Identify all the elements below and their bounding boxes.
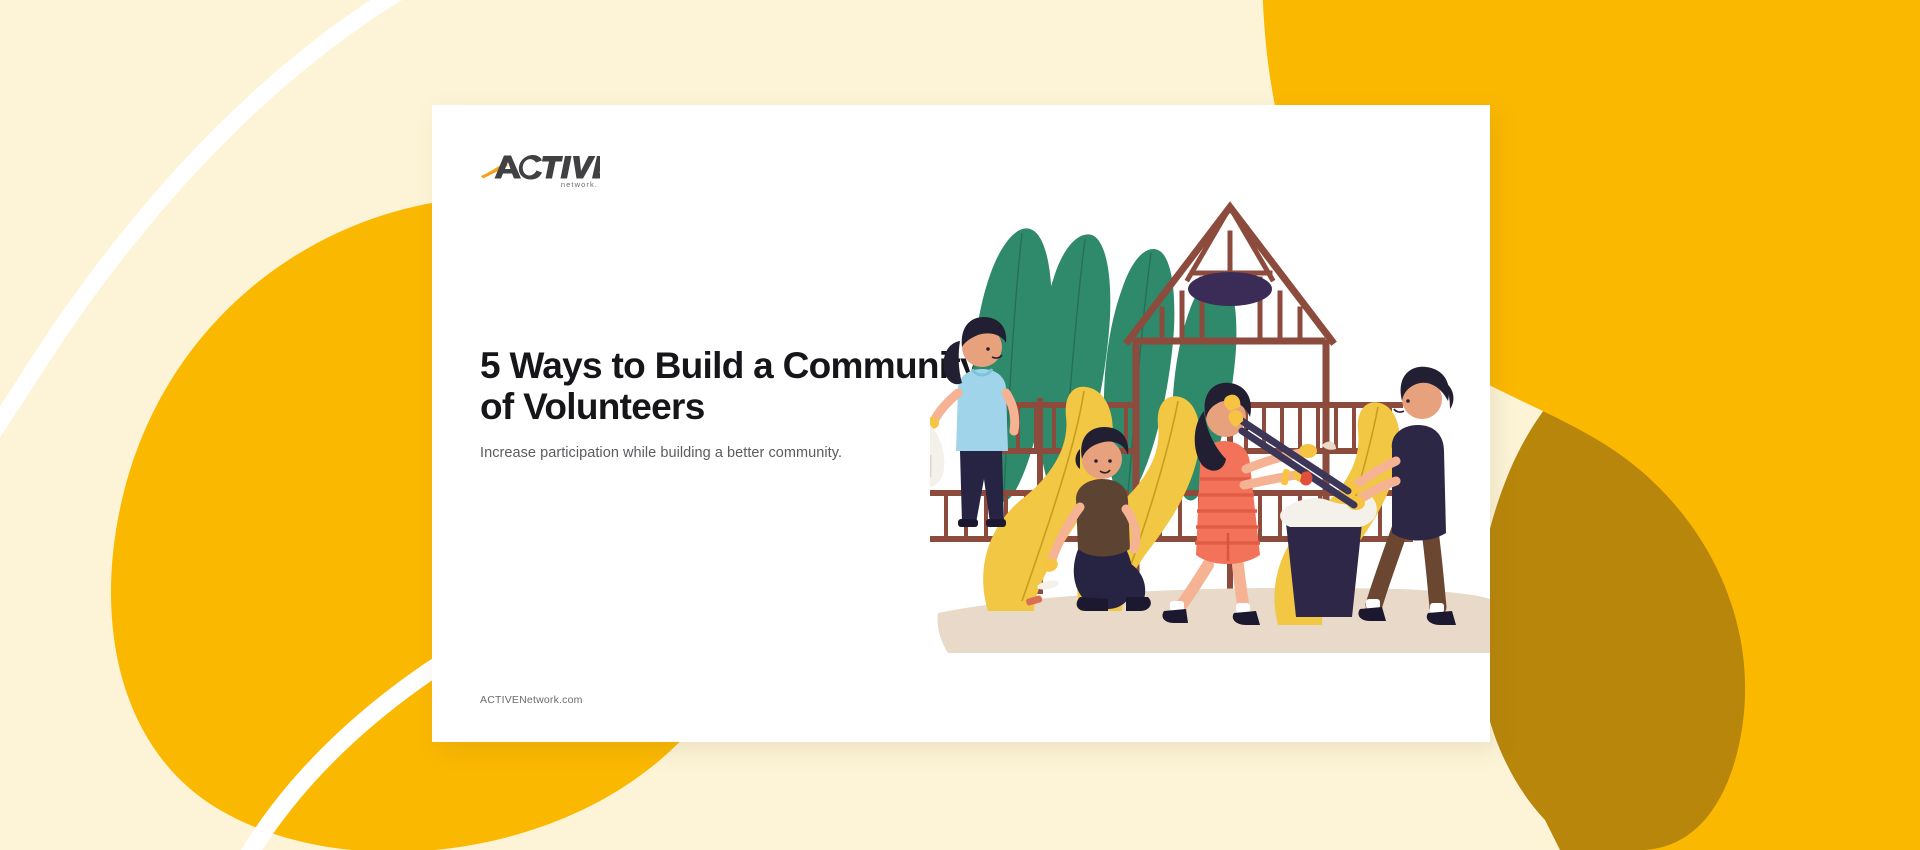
slide-canvas: network. 5 Ways to Build a Community of … (0, 0, 1920, 850)
headline-block: 5 Ways to Build a Community of Volunteer… (480, 345, 1000, 463)
active-network-logo: network. (480, 153, 600, 187)
page-title: 5 Ways to Build a Community of Volunteer… (480, 345, 1000, 427)
volunteers-cleaning-playground-illustration (930, 193, 1490, 653)
playground-sign-icon (1188, 272, 1272, 306)
logo-wordmark (495, 155, 601, 180)
logo-tagline: network. (561, 180, 598, 189)
slide-card: network. 5 Ways to Build a Community of … (432, 105, 1490, 742)
footer-url: ACTIVENetwork.com (480, 694, 583, 706)
page-subtitle: Increase participation while building a … (480, 443, 1000, 463)
